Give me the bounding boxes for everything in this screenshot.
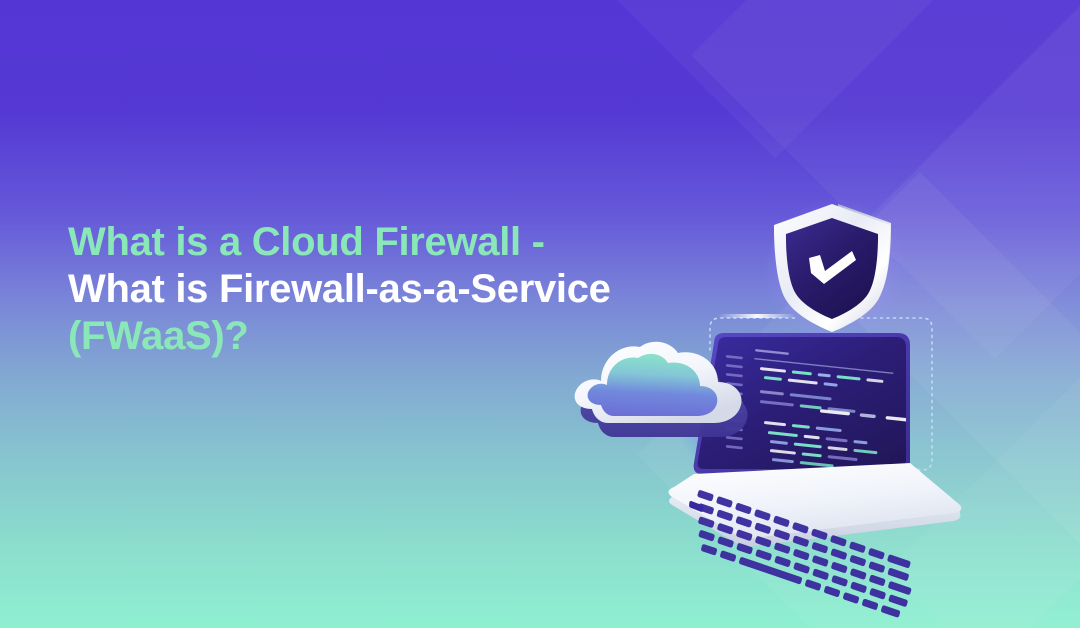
background-shape-e: [542, 0, 1009, 158]
cloud-icon: [568, 335, 758, 460]
security-shield-with-checkmark: [768, 201, 896, 333]
hero-banner: What is a Cloud Firewall - What is Firew…: [0, 0, 1080, 628]
hero-illustration: [560, 185, 1060, 565]
